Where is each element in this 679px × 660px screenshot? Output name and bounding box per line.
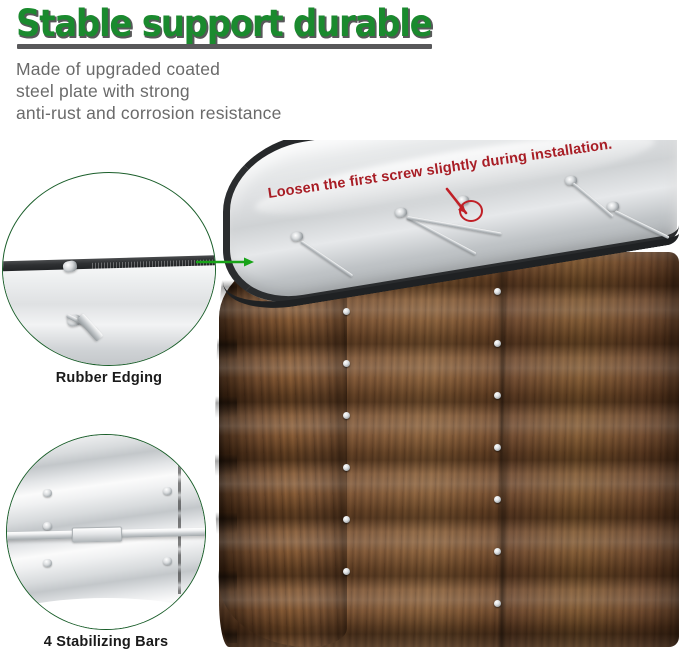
stabilizing-bar-detail	[7, 435, 205, 629]
callout-stabilizing-bars-circle	[6, 434, 206, 630]
infographic-canvas: Stable support durable Made of upgraded …	[0, 0, 679, 660]
panel-seam	[178, 447, 181, 594]
screw-icon	[163, 557, 172, 565]
description-line-3: anti-rust and corrosion resistance	[16, 102, 436, 124]
callout-stabilizing-bars-label: 4 Stabilizing Bars	[6, 634, 206, 650]
screw-icon	[343, 464, 350, 471]
screw-icon	[43, 522, 52, 530]
screw-icon	[494, 392, 501, 399]
screw-icon	[494, 288, 501, 295]
title-underline-rule	[17, 44, 432, 49]
screw-icon	[343, 308, 350, 315]
screw-icon	[494, 444, 501, 451]
screw-icon	[343, 516, 350, 523]
circle-highlight-icon	[459, 200, 483, 222]
callout-rubber-edging-circle	[2, 172, 216, 366]
screw-icon	[163, 487, 172, 495]
garden-bed-corrugation-edge	[215, 258, 237, 643]
callout-rubber-edging-label: Rubber Edging	[2, 370, 216, 386]
rubber-edging-detail	[3, 173, 215, 365]
silver-panel	[2, 265, 216, 366]
panel-bottom-edge	[6, 598, 206, 630]
description-line-1: Made of upgraded coated	[16, 58, 436, 80]
screw-icon	[494, 496, 501, 503]
screw-icon	[494, 548, 501, 555]
product-image	[195, 140, 679, 660]
description-text: Made of upgraded coated steel plate with…	[16, 58, 436, 124]
description-line-2: steel plate with strong	[16, 80, 436, 102]
stabilizing-bar-clamp	[72, 526, 122, 542]
page-title: Stable support durable	[16, 2, 431, 46]
screw-icon	[494, 600, 501, 607]
screw-icon	[343, 568, 350, 575]
screw-icon	[43, 489, 52, 497]
screw-icon	[494, 340, 501, 347]
screw-icon	[43, 559, 52, 567]
garden-bed-left-cap	[219, 252, 347, 647]
screw-icon	[343, 412, 350, 419]
callout-connector-line	[196, 256, 258, 268]
headline-block: Stable support durable	[16, 2, 476, 54]
screw-icon	[343, 360, 350, 367]
